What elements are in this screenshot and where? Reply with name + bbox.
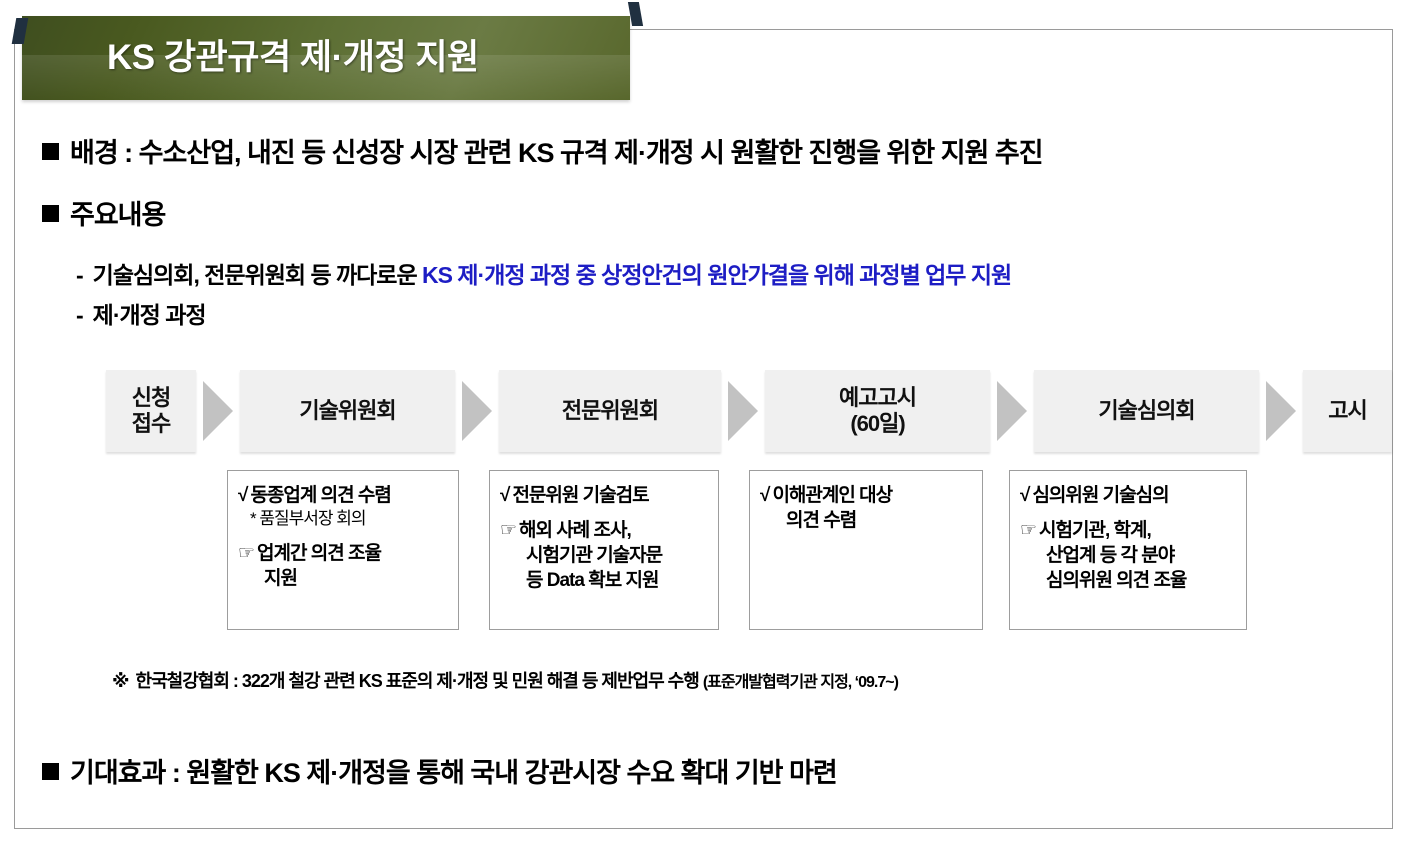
square-bullet-icon — [42, 143, 59, 160]
detail-check-row: √이해관계인 대상 — [760, 483, 974, 508]
flow-arrow-icon-3 — [728, 381, 758, 441]
footnote-text: 한국철강협회 : 322개 철강 관련 KS 표준의 제·개정 및 민원 해결 … — [136, 671, 699, 691]
detail-box-technical-committee: √동종업계 의견 수렴 * 품질부서장 회의 ☞업계간 의견 조율 지원 — [227, 470, 459, 630]
pointing-hand-icon: ☞ — [500, 520, 516, 541]
sub-line-1-blue: KS 제·개정 과정 중 상정안건의 원안가결을 위해 과정별 업무 지원 — [422, 262, 1011, 288]
page-title: KS 강관규격 제·개정 지원 — [22, 16, 630, 100]
detail-check-text: 이해관계인 대상 — [772, 485, 892, 506]
detail-check-text: 심의위원 기술심의 — [1032, 485, 1168, 506]
flow-arrow-icon-4 — [997, 381, 1027, 441]
sub-line-1-black: 기술심의회, 전문위원회 등 까다로운 — [93, 262, 422, 288]
reference-mark-icon: ※ — [112, 671, 129, 691]
detail-point-text-2: 시험기관 기술자문 — [500, 543, 710, 568]
detail-box-public-notice: √이해관계인 대상 의견 수렴 — [749, 470, 983, 630]
square-bullet-icon — [42, 205, 59, 222]
detail-point-row: ☞해외 사례 조사, — [500, 518, 710, 543]
check-mark-icon: √ — [1020, 485, 1029, 506]
flow-step-public-notice[interactable]: 예고고시(60일) — [765, 370, 990, 452]
flow-arrow-icon-5 — [1266, 381, 1296, 441]
banner-notch-right-icon — [628, 2, 643, 26]
flow-step-technical-committee[interactable]: 기술위원회 — [240, 370, 455, 452]
pointing-hand-icon: ☞ — [1020, 520, 1036, 541]
detail-point-text: 시험기관, 학계, — [1039, 520, 1151, 541]
detail-check-row: √동종업계 의견 수렴 — [238, 483, 450, 508]
detail-note: * 품질부서장 회의 — [238, 508, 450, 530]
sub-line-1: -기술심의회, 전문위원회 등 까다로운 KS 제·개정 과정 중 상정안건의 … — [76, 256, 1011, 290]
dash-marker: - — [76, 302, 83, 328]
detail-point-row: ☞시험기관, 학계, — [1020, 518, 1238, 543]
detail-point-text: 업계간 의견 조율 — [257, 543, 381, 564]
detail-point-text-3: 등 Data 확보 지원 — [500, 568, 710, 593]
flow-step-technical-review[interactable]: 기술심의회 — [1034, 370, 1259, 452]
background-section-text: 배경 : 수소산업, 내진 등 신성장 시장 관련 KS 규격 제·개정 시 원… — [70, 138, 1043, 168]
footnote: ※ 한국철강협회 : 322개 철강 관련 KS 표준의 제·개정 및 민원 해… — [112, 667, 898, 693]
detail-box-expert-committee: √전문위원 기술검토 ☞해외 사례 조사, 시험기관 기술자문 등 Data 확… — [489, 470, 719, 630]
detail-point-text-2: 지원 — [238, 566, 450, 591]
title-banner: KS 강관규격 제·개정 지원 — [22, 16, 630, 100]
detail-check-text-2: 의견 수렴 — [760, 508, 974, 533]
expected-effect-text: 기대효과 : 원활한 KS 제·개정을 통해 국내 강관시장 수요 확대 기반 … — [70, 758, 837, 788]
spacer — [238, 531, 450, 541]
detail-point-text-3: 심의위원 의견 조율 — [1020, 568, 1238, 593]
footnote-paren: (표준개발협력기관 지정, ‘09.7~) — [703, 674, 898, 691]
detail-point-text-2: 산업계 등 각 분야 — [1020, 543, 1238, 568]
detail-point-text: 해외 사례 조사, — [519, 520, 631, 541]
check-mark-icon: √ — [238, 485, 247, 506]
flow-arrow-icon-1 — [203, 381, 233, 441]
expected-effect-line: 기대효과 : 원활한 KS 제·개정을 통해 국내 강관시장 수요 확대 기반 … — [42, 751, 837, 790]
flow-step-notification[interactable]: 고시 — [1303, 370, 1392, 452]
sub-line-2: -제·개정 과정 — [76, 296, 206, 330]
detail-check-text: 전문위원 기술검토 — [512, 485, 648, 506]
spacer — [500, 508, 710, 518]
detail-check-row: √전문위원 기술검토 — [500, 483, 710, 508]
main-content-heading-text: 주요내용 — [70, 200, 165, 230]
spacer — [1020, 508, 1238, 518]
main-content-heading: 주요내용 — [42, 193, 165, 232]
detail-check-row: √심의위원 기술심의 — [1020, 483, 1238, 508]
pointing-hand-icon: ☞ — [238, 543, 254, 564]
flow-step-application[interactable]: 신청접수 — [106, 370, 196, 452]
flow-arrow-icon-2 — [462, 381, 492, 441]
detail-box-technical-review: √심의위원 기술심의 ☞시험기관, 학계, 산업계 등 각 분야 심의위원 의견… — [1009, 470, 1247, 630]
background-section-line: 배경 : 수소산업, 내진 등 신성장 시장 관련 KS 규격 제·개정 시 원… — [42, 131, 1043, 170]
detail-check-text: 동종업계 의견 수렴 — [250, 485, 390, 506]
dash-marker: - — [76, 262, 83, 288]
square-bullet-icon — [42, 763, 59, 780]
process-flow: 신청접수 기술위원회 전문위원회 예고고시(60일) 기술심의회 고시 — [106, 370, 1366, 452]
sub-line-2-black: 제·개정 과정 — [93, 302, 206, 328]
check-mark-icon: √ — [760, 485, 769, 506]
flow-step-expert-committee[interactable]: 전문위원회 — [499, 370, 721, 452]
detail-point-row: ☞업계간 의견 조율 — [238, 541, 450, 566]
check-mark-icon: √ — [500, 485, 509, 506]
